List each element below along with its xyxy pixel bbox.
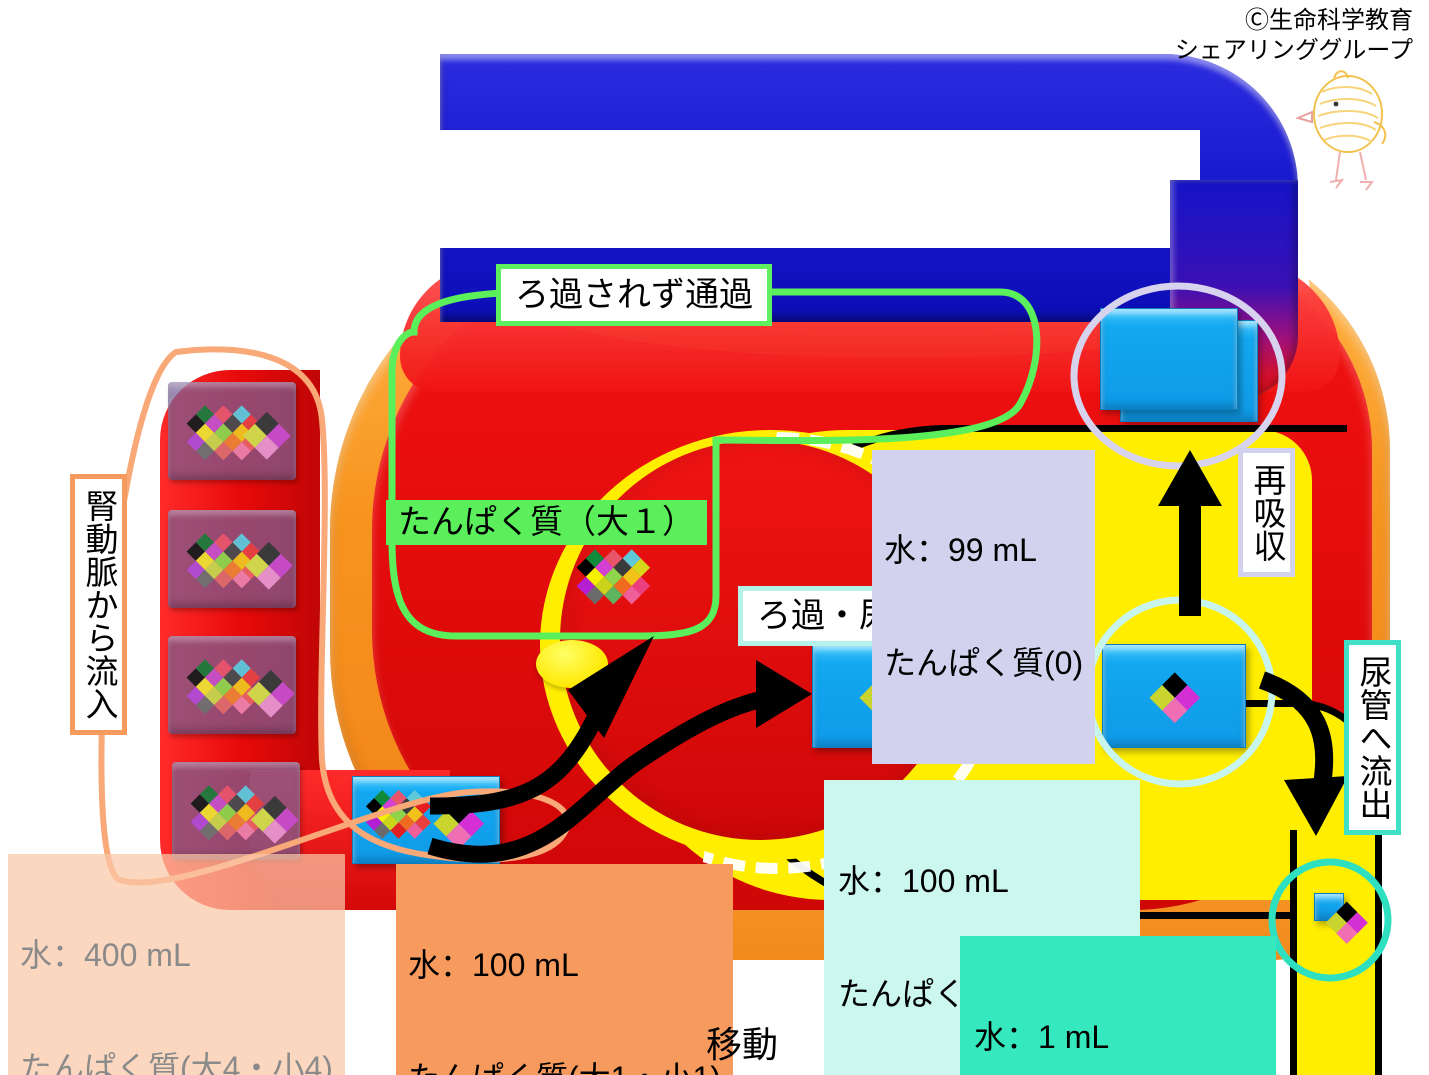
value-urine-water: 水：1 mL [974, 1019, 1262, 1057]
value-artery-protein: たんぱく質(大4・小4) [20, 1050, 333, 1075]
value-artery-water: 水：400 mL [20, 937, 333, 975]
water-packet-2 [168, 510, 296, 608]
large-protein-icon [350, 772, 447, 869]
value-reabsorbed: 水：99 mL たんぱく質(0) [872, 450, 1095, 764]
small-protein-icon [430, 798, 484, 852]
water-packet-3 [168, 636, 296, 734]
label-to-ureter: 尿管へ流出 [1344, 640, 1401, 835]
value-glomerulus-in: 水：100 mL たんぱく質(大1・小1) [396, 864, 733, 1075]
ureter-tube [1290, 830, 1382, 1075]
water-packet-4 [172, 762, 300, 860]
copyright-line-1: Ⓒ生命科学教育 [1175, 6, 1413, 36]
water-box-filtrate-2 [1102, 644, 1246, 748]
value-glomerulus-in-protein: たんぱく質(大1・小1) [408, 1060, 721, 1075]
water-box-reabsorbed-front [1100, 308, 1238, 410]
small-protein-icon [1146, 672, 1200, 726]
value-urine: 水：1 mL たんぱく質（小１） [960, 936, 1276, 1075]
copyright-line-2: シェアリンググループ [1175, 36, 1413, 66]
chick-mascot-icon [1290, 62, 1400, 192]
legend-label: 移動 [706, 1016, 778, 1068]
value-reabsorbed-protein: たんぱく質(0) [884, 645, 1083, 683]
copyright-notice: Ⓒ生命科学教育 シェアリンググループ [1175, 6, 1413, 66]
callout-no-filtration: ろ過されず通過 [496, 264, 772, 326]
water-packet-1 [168, 382, 296, 480]
capsule-lumen-dot [536, 640, 608, 688]
value-reabsorbed-water: 水：99 mL [884, 532, 1083, 570]
label-inflow: 腎動脈から流入 [70, 474, 127, 735]
value-artery: 水：400 mL たんぱく質(大4・小4) [8, 854, 345, 1075]
callout-protein-large: たんぱく質（大１） [386, 500, 707, 545]
vein-inner-cut [440, 130, 1200, 248]
value-filtrate-water: 水：100 mL [838, 863, 1126, 901]
label-reabsorption: 再吸収 [1238, 448, 1295, 577]
value-glomerulus-in-water: 水：100 mL [408, 947, 721, 985]
water-box-glomerulus-in [352, 776, 500, 864]
kidney-filtration-diagram: Ⓒ生命科学教育 シェアリンググループ ろ過されず通過 たんぱく質（大１） ろ過・… [0, 0, 1429, 1075]
